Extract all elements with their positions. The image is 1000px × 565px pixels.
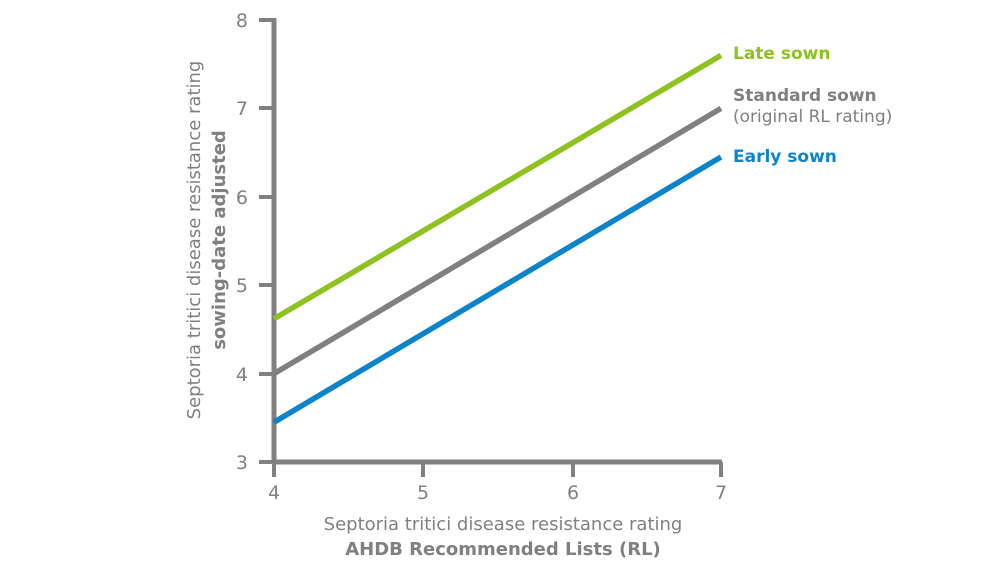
y-tick-label-6: 6 bbox=[236, 187, 248, 209]
y-tick-label-5: 5 bbox=[236, 275, 248, 297]
x-tick-label-6: 6 bbox=[567, 482, 579, 504]
y-tick-label-7: 7 bbox=[236, 98, 248, 120]
x-axis-title-line2: AHDB Recommended Lists (RL) bbox=[345, 539, 661, 560]
legend-sublabel-standard-sown: (original RL rating) bbox=[733, 107, 892, 128]
y-axis-title-line1: Septoria tritici disease resistance rati… bbox=[184, 61, 205, 420]
legend-item-late-sown[interactable]: Late sown bbox=[733, 44, 830, 65]
legend-label-standard-sown: Standard sown bbox=[733, 86, 877, 106]
x-axis-title-line1: Septoria tritici disease resistance rati… bbox=[324, 514, 683, 535]
legend-label-late-sown: Late sown bbox=[733, 44, 830, 64]
y-tick-label-8: 8 bbox=[236, 10, 248, 32]
x-tick-label-4: 4 bbox=[268, 482, 280, 504]
x-tick-label-5: 5 bbox=[417, 482, 429, 504]
series-line-standard-sown[interactable] bbox=[274, 108, 721, 373]
data-series-group bbox=[274, 55, 721, 422]
series-line-late-sown[interactable] bbox=[274, 55, 721, 318]
legend-item-standard-sown[interactable]: Standard sown (original RL rating) bbox=[733, 86, 892, 129]
y-tick-label-3: 3 bbox=[236, 452, 248, 474]
y-axis-tick-labels: 8 7 6 5 4 3 bbox=[236, 10, 248, 474]
x-tick-label-7: 7 bbox=[715, 482, 727, 504]
legend-label-early-sown: Early sown bbox=[733, 147, 837, 167]
chart-container: 8 7 6 5 4 3 4 5 6 7 Septori bbox=[0, 0, 1000, 565]
y-axis-title: Septoria tritici disease resistance rati… bbox=[184, 61, 230, 420]
series-line-early-sown[interactable] bbox=[274, 157, 721, 422]
y-axis-title-line2: sowing-date adjusted bbox=[209, 130, 230, 350]
x-axis-tick-labels: 4 5 6 7 bbox=[268, 482, 727, 504]
line-chart-plot: 8 7 6 5 4 3 4 5 6 7 Septori bbox=[0, 0, 1000, 565]
x-axis-title: Septoria tritici disease resistance rati… bbox=[324, 514, 683, 560]
legend-item-early-sown[interactable]: Early sown bbox=[733, 147, 837, 168]
y-tick-label-4: 4 bbox=[236, 364, 248, 386]
